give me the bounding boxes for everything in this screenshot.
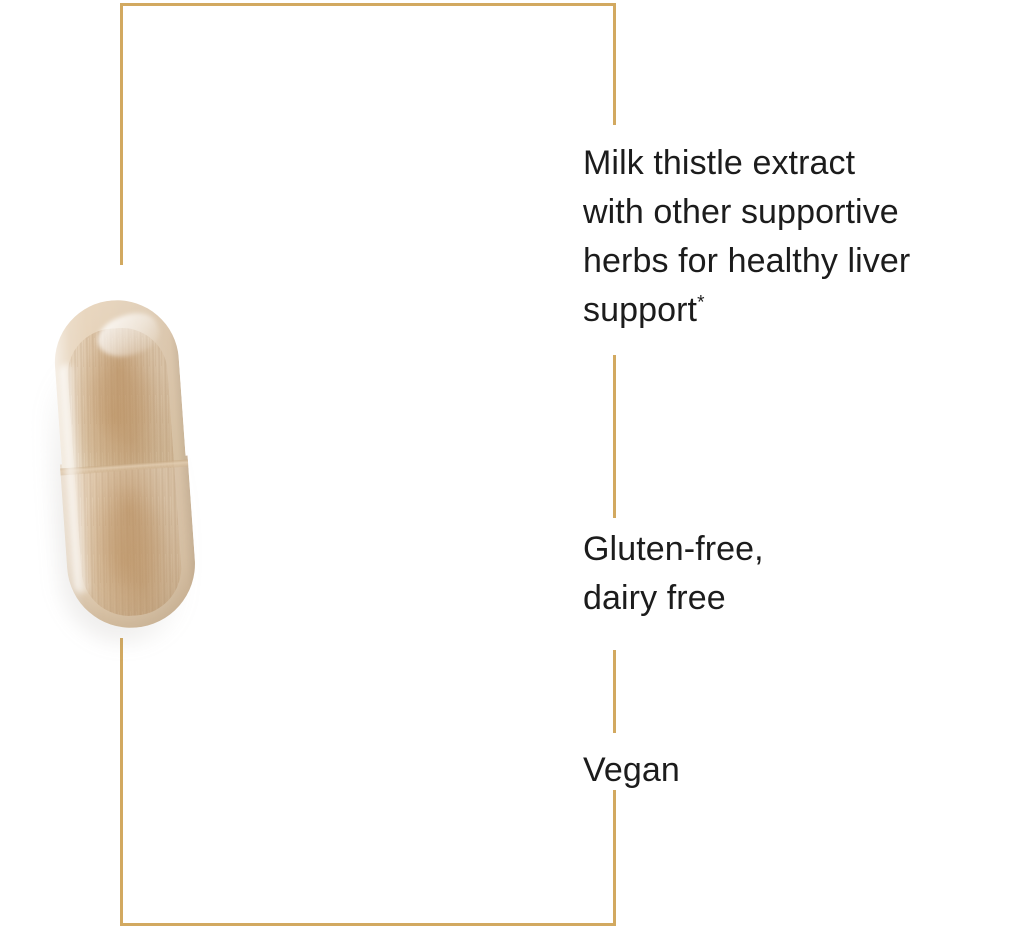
capsule-powder-lower [74,463,184,620]
feature-caption-vegan: Vegan [583,746,1024,795]
frame-line-right-2 [613,355,616,518]
frame-line-left-lower [120,638,123,926]
capsule-graphic [49,296,200,632]
frame-line-right-4 [613,790,616,926]
product-feature-panel: Milk thistle extract with other supporti… [0,0,1024,935]
frame-line-top [120,3,616,6]
feature-caption-allergen-free: Gluten-free, dairy free [583,525,1024,623]
footnote-asterisk: * [697,293,705,314]
capsule-product-image [52,296,200,632]
frame-line-bottom [120,923,616,926]
feature-caption-liver-support: Milk thistle extract with other supporti… [583,139,1024,335]
frame-line-left-upper [120,3,123,265]
frame-line-right-1 [613,3,616,125]
frame-line-right-3 [613,650,616,733]
feature-text: Vegan [583,751,680,789]
feature-text: Milk thistle extract with other supporti… [583,144,910,329]
feature-text: Gluten-free, dairy free [583,530,764,617]
